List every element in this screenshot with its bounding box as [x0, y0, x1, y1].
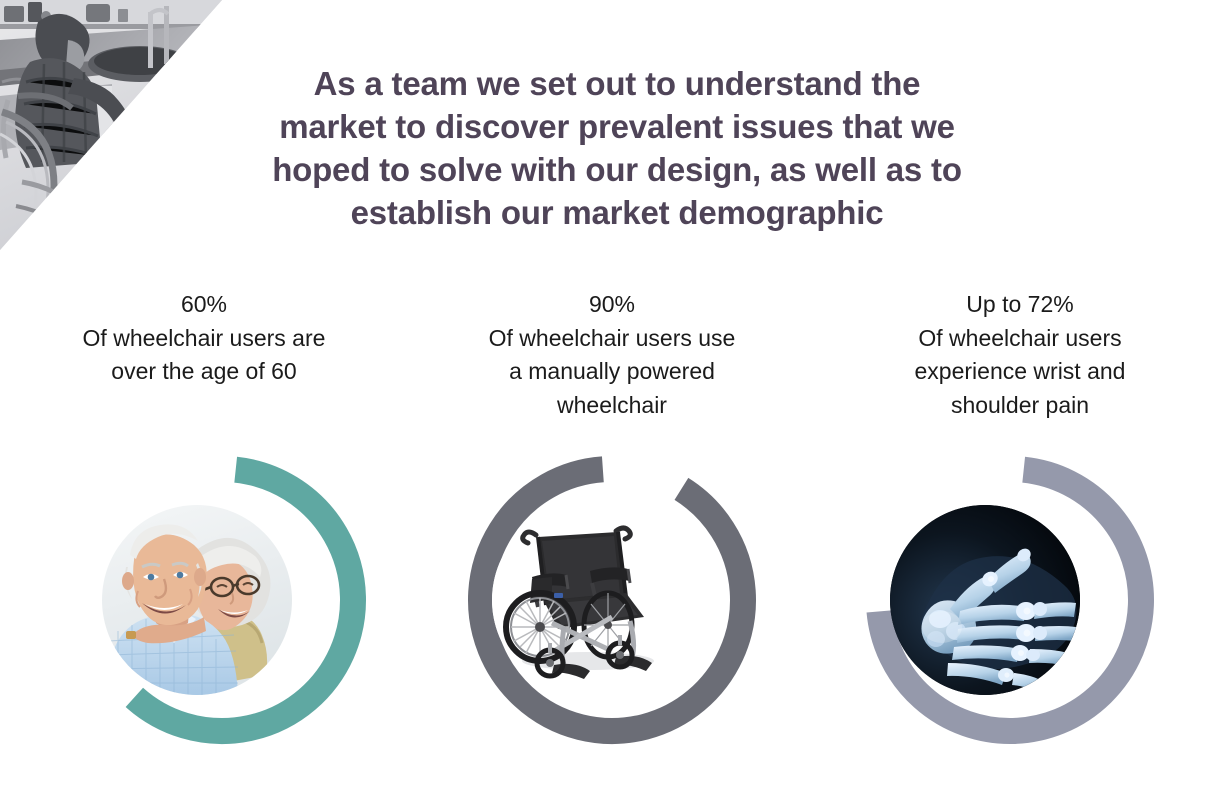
stat-desc-1-line-2: over the age of 60 [30, 355, 378, 389]
elderly-couple-photo [102, 505, 292, 695]
stat-desc-3-line-2: experience wrist and [846, 355, 1194, 389]
stat-ring-block-3 [855, 440, 1165, 760]
page-title-line-4: establish our market demographic [351, 194, 884, 231]
stat-ring-block-1 [67, 440, 377, 760]
page-title-line-1: As a team we set out to understand the [314, 65, 921, 102]
stat-desc-2-line-1: Of wheelchair users use [438, 322, 786, 356]
rings-row [0, 440, 1224, 760]
page-title-line-3: hoped to solve with our design, as well … [272, 151, 962, 188]
stat-text-1: 60% Of wheelchair users are over the age… [0, 288, 408, 438]
stat-percent-2: 90% [438, 288, 786, 322]
stats-row: 60% Of wheelchair users are over the age… [0, 288, 1224, 438]
manual-wheelchair-illustration [492, 505, 682, 695]
stat-percent-3: Up to 72% [846, 288, 1194, 322]
manual-wheelchair-photo [492, 505, 682, 695]
corner-photo-illustration [0, 0, 222, 250]
stat-percent-1: 60% [30, 288, 378, 322]
elderly-couple-illustration [102, 505, 292, 695]
stat-desc-2-line-2: a manually powered [438, 355, 786, 389]
stat-desc-3-line-3: shoulder pain [846, 389, 1194, 423]
hand-xray-illustration [890, 505, 1080, 695]
stat-text-3: Up to 72% Of wheelchair users experience… [816, 288, 1224, 438]
stat-ring-block-2 [457, 440, 767, 760]
stat-desc-3-line-1: Of wheelchair users [846, 322, 1194, 356]
stat-desc-1-line-1: Of wheelchair users are [30, 322, 378, 356]
page-title: As a team we set out to understand the m… [232, 62, 1002, 234]
hand-xray-photo [890, 505, 1080, 695]
corner-photo [0, 0, 222, 250]
stat-desc-2-line-3: wheelchair [438, 389, 786, 423]
page-title-line-2: market to discover prevalent issues that… [279, 108, 955, 145]
stat-text-2: 90% Of wheelchair users use a manually p… [408, 288, 816, 438]
